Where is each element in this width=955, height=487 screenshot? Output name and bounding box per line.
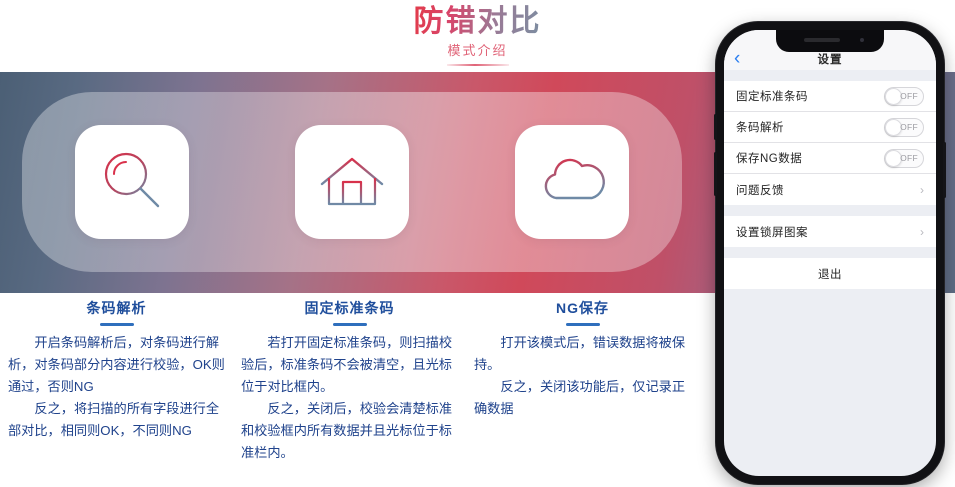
toggle-state-label: OFF xyxy=(900,91,918,101)
icon-card-house[interactable] xyxy=(295,125,409,239)
settings-row-lock-pattern[interactable]: 设置锁屏图案 › xyxy=(724,216,936,247)
toggle-state-label: OFF xyxy=(900,153,918,163)
page-title: 防错对比 xyxy=(414,4,542,40)
feature-columns: 条码解析 开启条码解析后，对条码进行解析，对条码部分内容进行校验，OK则通过，否… xyxy=(0,298,700,487)
settings-row-fixed-standard-barcode[interactable]: 固定标准条码 OFF xyxy=(724,81,936,112)
feature-column-fixed-standard: 固定标准条码 若打开固定标准条码，则扫描校验后，标准条码不会被清空，且光标位于对… xyxy=(233,298,466,487)
settings-row-barcode-parse[interactable]: 条码解析 OFF xyxy=(724,112,936,143)
column-paragraph: 打开该模式后，错误数据将被保持。 xyxy=(474,332,691,376)
list-gap xyxy=(724,247,936,258)
page-root: 防错对比 模式介绍 xyxy=(0,0,955,487)
column-body: 开启条码解析后，对条码进行解析，对条码部分内容进行校验，OK则通过，否则NG 反… xyxy=(8,332,225,442)
title-divider xyxy=(447,64,509,66)
row-label: 保存NG数据 xyxy=(736,150,884,166)
settings-group-1: 固定标准条码 OFF 条码解析 OFF 保存NG数据 xyxy=(724,81,936,205)
column-paragraph: 反之，将扫描的所有字段进行全部对比，相同则OK，不同则NG xyxy=(8,398,225,442)
row-label: 条码解析 xyxy=(736,119,884,135)
column-divider xyxy=(566,323,600,326)
icon-card-cloud[interactable] xyxy=(515,125,629,239)
logout-button[interactable]: 退出 xyxy=(724,258,936,289)
column-paragraph: 反之，关闭后，校验会清楚标准和校验框内所有数据并且光标位于标准栏内。 xyxy=(241,398,458,464)
phone-power-button[interactable] xyxy=(943,142,946,198)
house-icon xyxy=(316,146,388,218)
banner-icon-row xyxy=(22,92,682,272)
settings-row-feedback[interactable]: 问题反馈 › xyxy=(724,174,936,205)
feature-column-ng-save: NG保存 打开该模式后，错误数据将被保持。 反之，关闭该功能后，仅记录正确数据 xyxy=(466,298,699,487)
column-heading: 条码解析 xyxy=(8,298,225,318)
magnifier-icon xyxy=(96,146,168,218)
row-label: 退出 xyxy=(818,266,842,282)
phone-mockup: ‹ 设置 固定标准条码 OFF 条码解析 OFF xyxy=(716,22,944,484)
list-gap xyxy=(724,70,936,81)
column-paragraph: 开启条码解析后，对条码进行解析，对条码部分内容进行校验，OK则通过，否则NG xyxy=(8,332,225,398)
settings-group-3: 退出 xyxy=(724,258,936,289)
row-label: 问题反馈 xyxy=(736,182,920,198)
icon-card-magnifier[interactable] xyxy=(75,125,189,239)
chevron-right-icon: › xyxy=(920,226,924,238)
phone-screen: ‹ 设置 固定标准条码 OFF 条码解析 OFF xyxy=(724,30,936,476)
page-header: 防错对比 模式介绍 xyxy=(0,4,955,66)
toggle-fixed-standard-barcode[interactable]: OFF xyxy=(884,87,924,106)
toggle-barcode-parse[interactable]: OFF xyxy=(884,118,924,137)
settings-group-2: 设置锁屏图案 › xyxy=(724,216,936,247)
toggle-state-label: OFF xyxy=(900,122,918,132)
column-heading: NG保存 xyxy=(474,298,691,318)
column-body: 打开该模式后，错误数据将被保持。 反之，关闭该功能后，仅记录正确数据 xyxy=(474,332,691,420)
row-label: 设置锁屏图案 xyxy=(736,224,920,240)
feature-column-barcode-parse: 条码解析 开启条码解析后，对条码进行解析，对条码部分内容进行校验，OK则通过，否… xyxy=(0,298,233,487)
column-heading: 固定标准条码 xyxy=(241,298,458,318)
toggle-save-ng-data[interactable]: OFF xyxy=(884,149,924,168)
row-label: 固定标准条码 xyxy=(736,88,884,104)
column-divider xyxy=(333,323,367,326)
chevron-right-icon: › xyxy=(920,184,924,196)
column-paragraph: 若打开固定标准条码，则扫描校验后，标准条码不会被清空，且光标位于对比框内。 xyxy=(241,332,458,398)
settings-row-save-ng-data[interactable]: 保存NG数据 OFF xyxy=(724,143,936,174)
cloud-icon xyxy=(534,146,610,218)
column-paragraph: 反之，关闭该功能后，仅记录正确数据 xyxy=(474,376,691,420)
column-divider xyxy=(100,323,134,326)
list-gap xyxy=(724,205,936,216)
page-subtitle: 模式介绍 xyxy=(0,42,955,60)
column-body: 若打开固定标准条码，则扫描校验后，标准条码不会被清空，且光标位于对比框内。 反之… xyxy=(241,332,458,464)
